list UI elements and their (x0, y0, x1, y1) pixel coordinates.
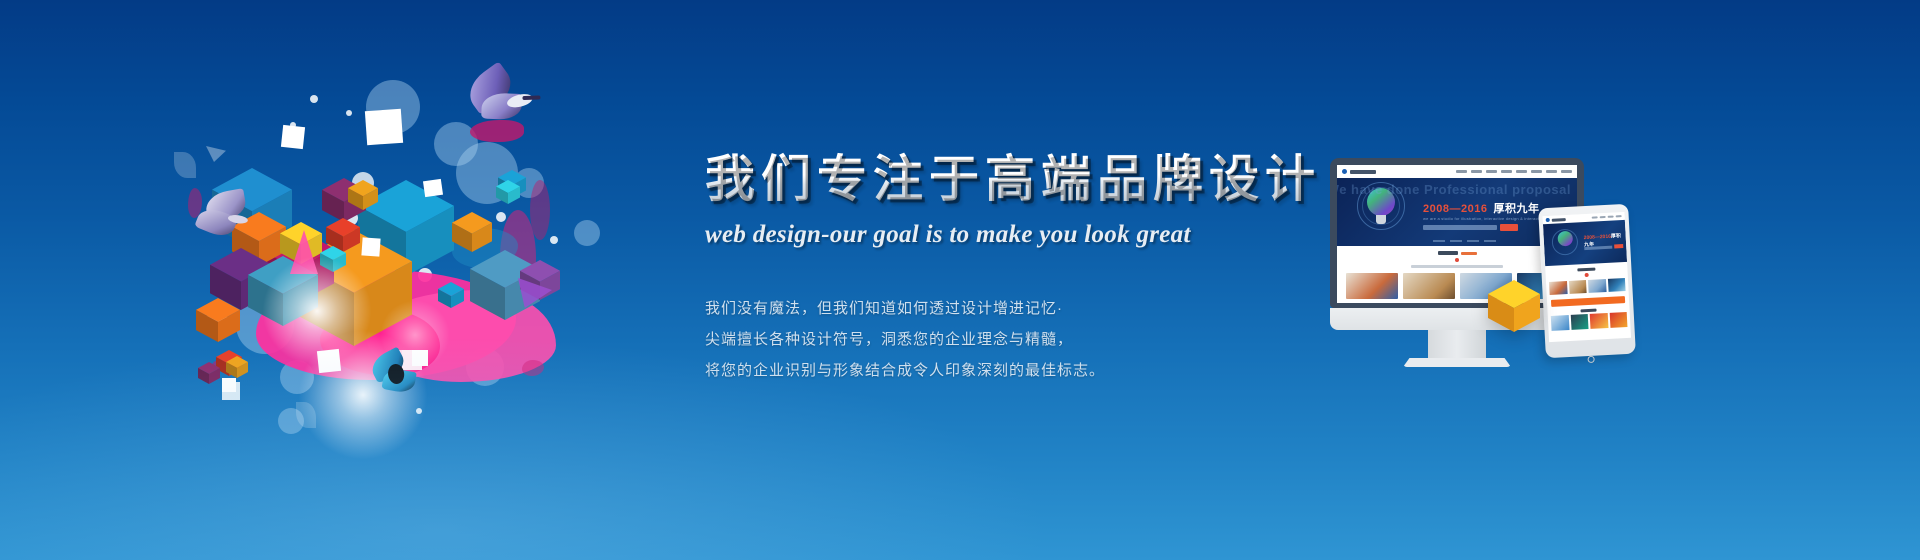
slider-dot[interactable] (1467, 240, 1479, 242)
description-line: 尖端擅长各种设计符号，洞悉您的企业理念与精髓， (705, 324, 1325, 355)
hero-copy: 我们专注于高端品牌设计 web design-our goal is to ma… (705, 150, 1325, 386)
nav-item (1486, 170, 1497, 173)
nav-item (1608, 216, 1614, 218)
cube (196, 298, 240, 342)
mobile-thumbnail-row (1549, 278, 1626, 295)
nav-item (1616, 215, 1622, 217)
section-divider-dot (1585, 273, 1589, 277)
tablet-home-button[interactable] (1587, 356, 1594, 363)
device-mockup-group: We have done Professional proposal 2008—… (1320, 158, 1650, 398)
hero-slider-dots[interactable] (1433, 240, 1496, 242)
site-logo-text (1350, 170, 1376, 174)
case-thumbnail[interactable] (1570, 314, 1588, 330)
mobile-cta-banner[interactable] (1551, 296, 1625, 307)
bubble (310, 95, 318, 103)
bubble (346, 110, 352, 116)
page-title: 我们专注于高端品牌设计 (705, 150, 1325, 209)
section-description (1411, 265, 1503, 268)
paint-splash (522, 360, 544, 376)
butterfly-icon (195, 188, 264, 248)
square (281, 125, 305, 149)
nav-item (1471, 170, 1482, 173)
slider-dot[interactable] (1450, 240, 1462, 242)
hero-description: 我们没有魔法，但我们知道如何透过设计增进记忆· 尖端擅长各种设计符号，洞悉您的企… (705, 293, 1325, 386)
bubble (574, 220, 600, 246)
hero-cta-row (1423, 224, 1518, 231)
service-thumbnail[interactable] (1346, 273, 1398, 299)
nav-item (1600, 216, 1606, 218)
hero-cta-line (1423, 225, 1497, 230)
site-nav-items (1456, 170, 1572, 173)
section-heading-en (1461, 252, 1477, 255)
tablet-screen: 2008—2016厚积九年 (1543, 212, 1631, 342)
lightbulb-icon (1551, 228, 1578, 255)
site-logo-icon (1342, 169, 1347, 174)
section-heading (1343, 251, 1571, 255)
nav-item (1546, 170, 1557, 173)
cube (348, 180, 378, 210)
cta-button[interactable] (1614, 244, 1623, 248)
section-heading (1580, 309, 1596, 313)
site-navbar (1337, 165, 1577, 178)
nav-item (1516, 170, 1527, 173)
bubble (550, 236, 558, 244)
cube (198, 362, 220, 384)
tablet-mockup: 2008—2016厚积九年 (1538, 204, 1636, 359)
nav-item (1531, 170, 1542, 173)
square (361, 237, 380, 256)
hero-years-range: 2008—2016 (1423, 203, 1487, 215)
nav-item (1501, 170, 1512, 173)
butterfly-icon (365, 346, 427, 399)
mobile-hero: 2008—2016厚积九年 (1543, 220, 1627, 266)
section-divider-dot (1455, 258, 1459, 262)
butterfly-icon (464, 60, 549, 138)
hero-years: 2008—2016厚积九年 (1423, 200, 1539, 216)
monitor-neck (1428, 330, 1486, 358)
cta-line (1584, 245, 1612, 249)
site-logo-text (1552, 218, 1566, 222)
hero-ghost-text: We have done Professional proposal (1337, 182, 1571, 197)
mobile-section (1545, 262, 1630, 331)
hero-banner: 我们专注于高端品牌设计 web design-our goal is to ma… (0, 0, 1920, 560)
slider-dot[interactable] (1484, 240, 1496, 242)
service-thumbnail[interactable] (1607, 278, 1625, 292)
abstract-artwork (170, 60, 630, 480)
cube (226, 356, 248, 378)
cube (438, 282, 464, 308)
nav-item (1561, 170, 1572, 173)
service-thumbnail[interactable] (1403, 273, 1455, 299)
hero-cta-button[interactable] (1500, 224, 1518, 231)
square (423, 179, 443, 197)
case-thumbnail[interactable] (1590, 313, 1608, 329)
hero-subtext: we are a studio for illustration, intera… (1423, 216, 1545, 221)
yellow-cube-icon (1488, 280, 1540, 332)
hero-headline: 厚积九年 (1493, 203, 1539, 215)
nav-item (1456, 170, 1467, 173)
service-thumbnail[interactable] (1568, 280, 1586, 294)
mobile-hero-cta (1584, 244, 1623, 250)
section-heading-cn (1438, 251, 1458, 255)
monitor-foot (1403, 358, 1511, 367)
service-thumbnail[interactable] (1588, 279, 1606, 293)
shard (206, 146, 226, 162)
square (222, 382, 240, 400)
description-line: 将您的企业识别与形象结合成令人印象深刻的最佳标志。 (705, 355, 1325, 386)
case-thumbnail[interactable] (1609, 312, 1627, 328)
slider-dot[interactable] (1433, 240, 1445, 242)
petal (174, 152, 196, 178)
cube (496, 180, 520, 204)
bubble (496, 212, 506, 222)
square (365, 109, 403, 145)
bulb-base (1376, 215, 1386, 224)
case-thumbnail[interactable] (1551, 315, 1569, 331)
hero-years-range: 2008—2016 (1584, 234, 1612, 241)
mobile-section-2 (1551, 307, 1628, 331)
service-thumbnail[interactable] (1549, 281, 1567, 295)
paint-splash (530, 180, 550, 240)
cube (452, 212, 492, 252)
nav-item (1592, 216, 1598, 218)
site-logo-icon (1546, 218, 1550, 222)
mobile-nav-items (1592, 215, 1622, 219)
page-subtitle: web design-our goal is to make you look … (705, 221, 1325, 249)
description-line: 我们没有魔法，但我们知道如何透过设计增进记忆· (705, 293, 1325, 324)
section-heading (1577, 268, 1595, 272)
mobile-case-row (1551, 312, 1628, 331)
